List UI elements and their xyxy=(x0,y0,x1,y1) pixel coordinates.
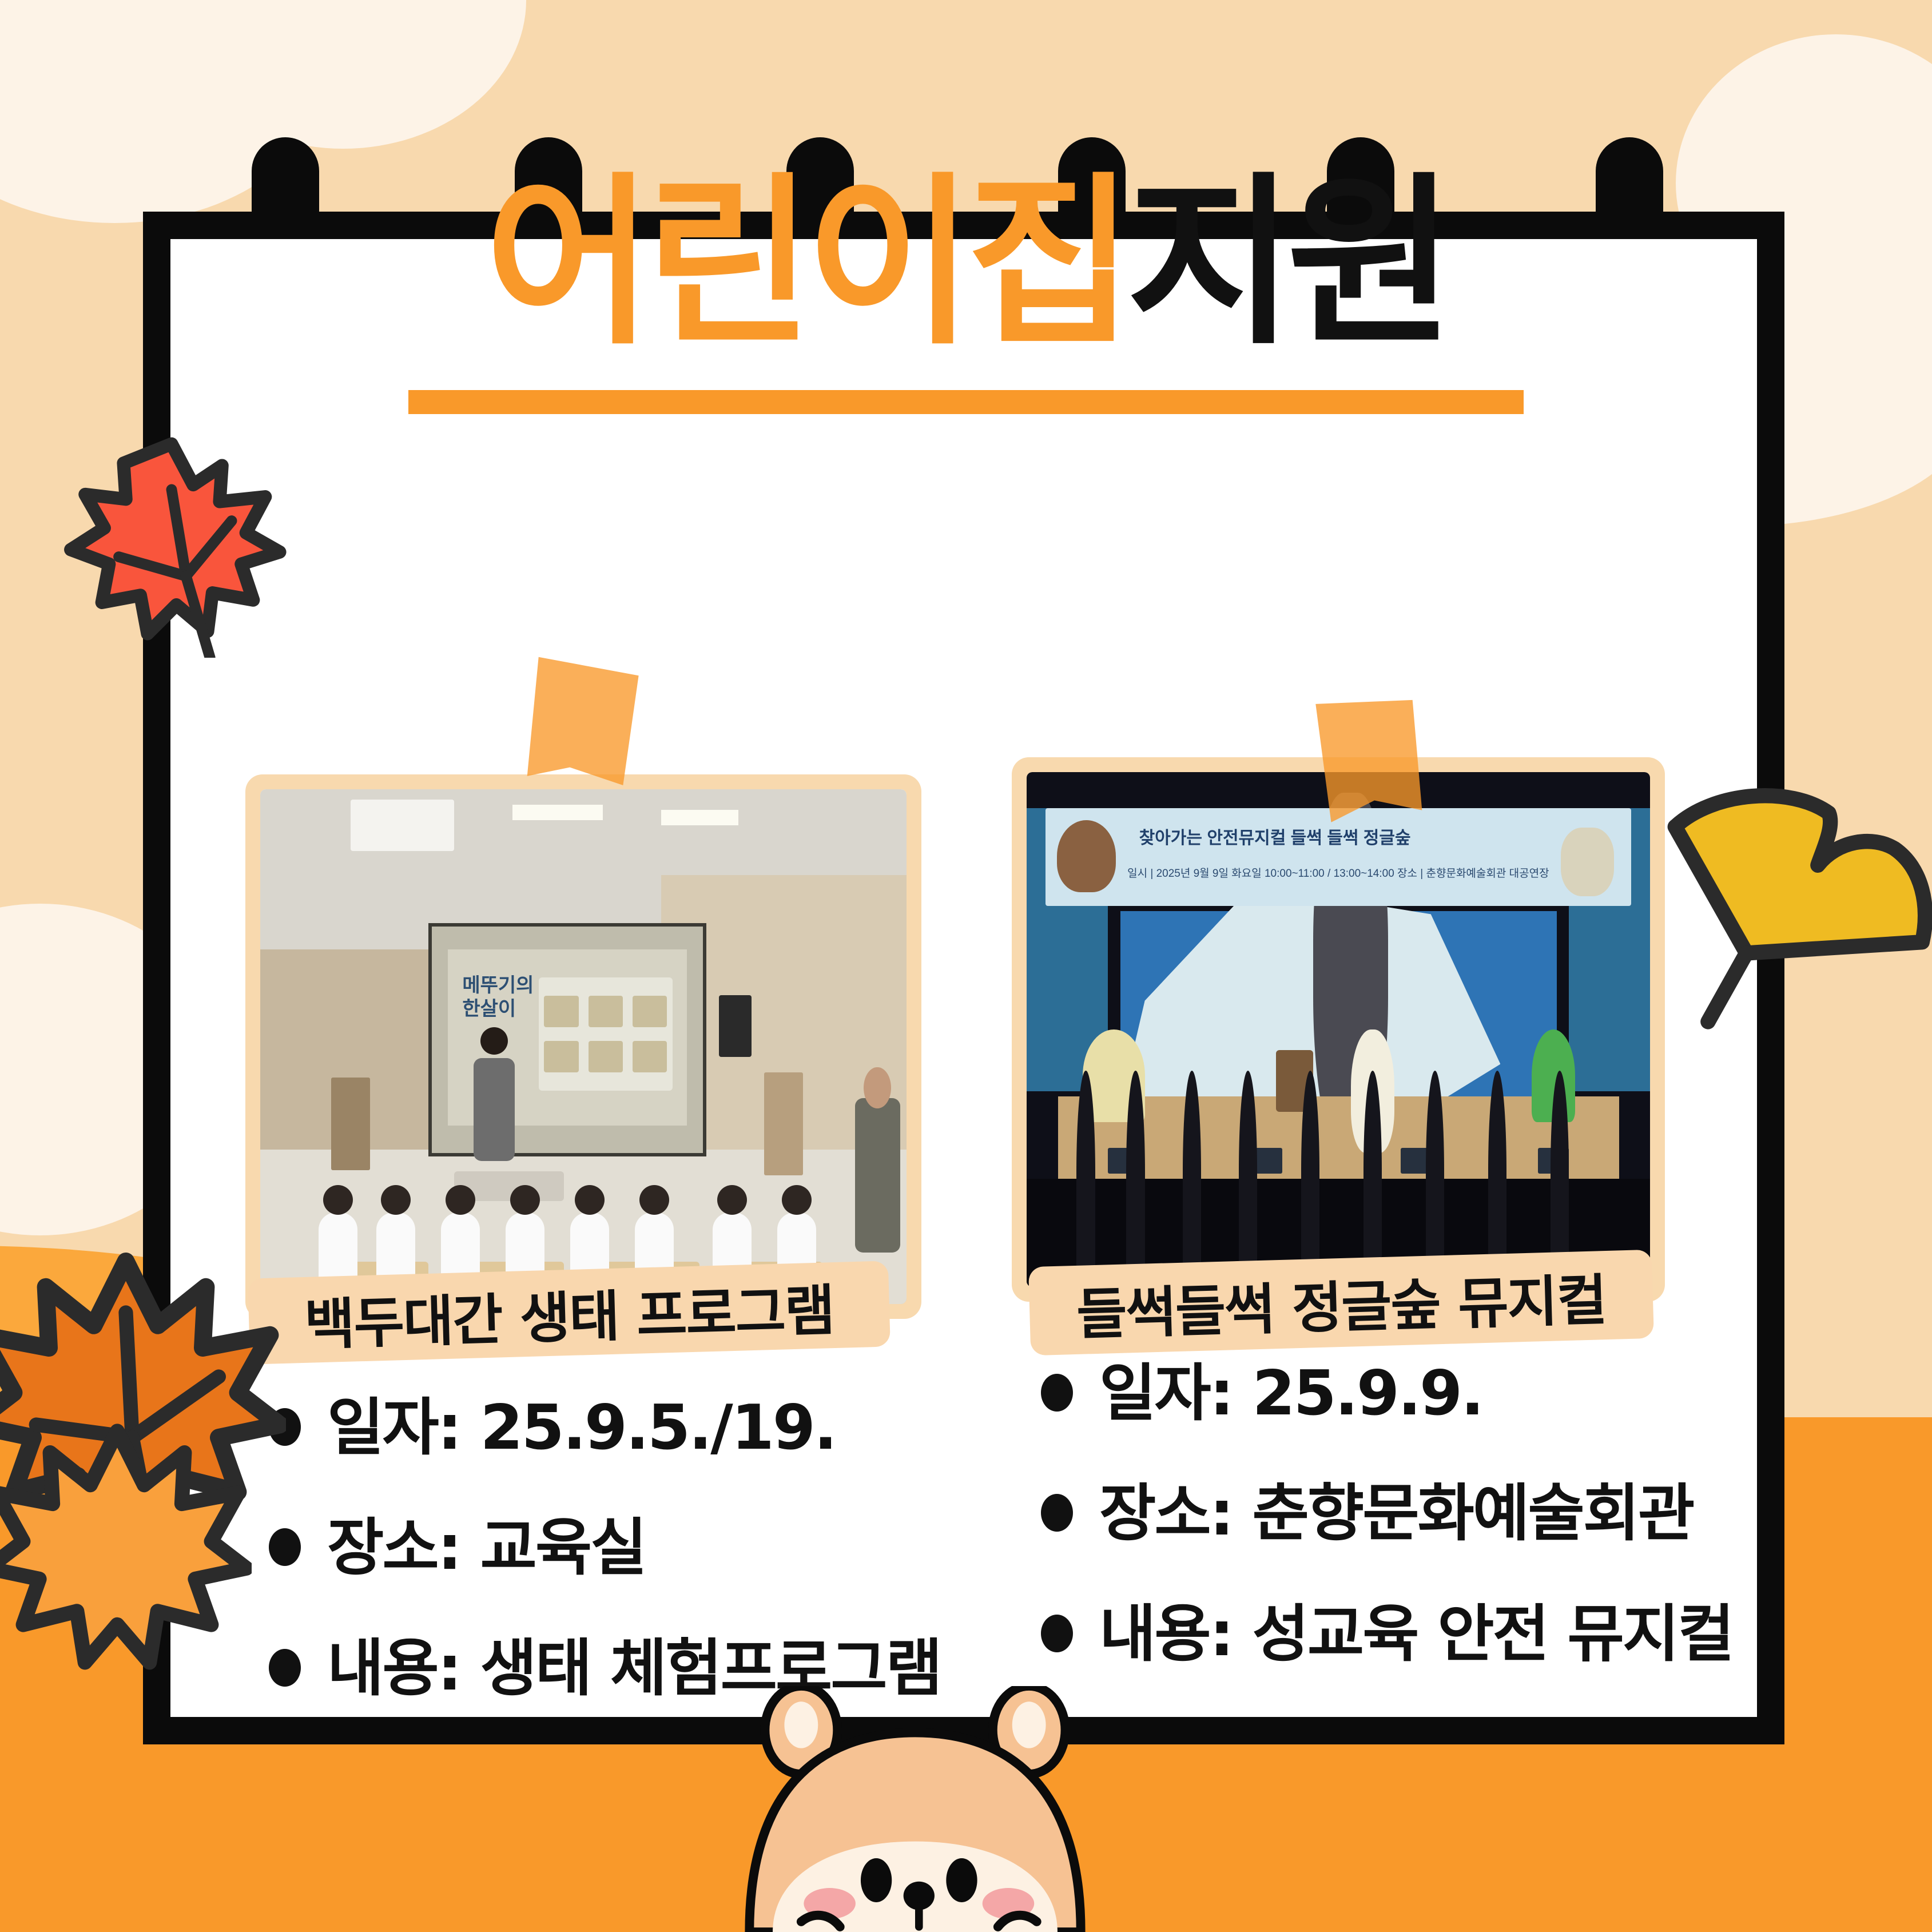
program-details-right: 일자: 25.9.9. 장소: 춘향문화예술회관 내용: 성교육 안전 뮤지컬 xyxy=(1041,1361,1733,1722)
stage-banner-subtitle: 일시 | 2025년 9월 9일 화요일 10:00~11:00 / 13:00… xyxy=(1127,865,1549,880)
program-caption-right: 들썩들썩 정글숲 뮤지컬 xyxy=(1028,1250,1654,1355)
program-caption-right-text: 들썩들썩 정글숲 뮤지컬 xyxy=(1075,1255,1607,1350)
stage-banner-title: 찾아가는 안전뮤지컬 들썩 들썩 정글숲 xyxy=(1139,824,1411,849)
title-underline xyxy=(408,390,1524,414)
list-item: 일자: 25.9.5./19. xyxy=(269,1396,941,1461)
program-caption-left: 백두대간 생태 프로그램 xyxy=(248,1261,891,1364)
bear-mascot-icon xyxy=(718,1686,1112,1932)
program-card-right: 찾아가는 안전뮤지컬 들썩 들썩 정글숲 일시 | 2025년 9월 9일 화요… xyxy=(1027,772,1650,1287)
detail-text: 내용: 성교육 안전 뮤지컬 xyxy=(1099,1602,1733,1667)
page-title-primary: 어린이집 xyxy=(485,157,1127,369)
program-card-left: 메뚜기의한살이 xyxy=(260,789,907,1304)
detail-text: 일자: 25.9.5./19. xyxy=(327,1396,836,1461)
program-caption-left-text: 백두대간 생태 프로그램 xyxy=(303,1266,835,1360)
detail-text: 장소: 춘향문화예술회관 xyxy=(1099,1481,1693,1547)
bullet-dot-icon xyxy=(269,1649,301,1687)
detail-text: 일자: 25.9.9. xyxy=(1099,1361,1482,1426)
page-title-secondary: 지원 xyxy=(1126,157,1447,369)
page-title-block: 어린이집지원 xyxy=(0,172,1932,414)
maple-leaf-red-icon xyxy=(51,418,292,658)
slide-title: 메뚜기의한살이 xyxy=(462,974,534,1021)
maple-leaf-orange-icon xyxy=(0,1407,252,1676)
list-item: 장소: 춘향문화예술회관 xyxy=(1041,1481,1733,1547)
ginkgo-leaf-yellow-icon xyxy=(1659,766,1932,1041)
list-item: 일자: 25.9.9. xyxy=(1041,1361,1733,1426)
page-title: 어린이집지원 xyxy=(0,172,1932,355)
bullet-dot-icon xyxy=(1041,1494,1073,1532)
detail-text: 장소: 교육실 xyxy=(327,1516,646,1581)
theater-musical-stage-photo: 찾아가는 안전뮤지컬 들썩 들썩 정글숲 일시 | 2025년 9월 9일 화요… xyxy=(1027,772,1650,1287)
bullet-dot-icon xyxy=(1041,1374,1073,1412)
bullet-dot-icon xyxy=(1041,1615,1073,1652)
classroom-ecology-lecture-photo: 메뚜기의한살이 xyxy=(260,789,907,1304)
list-item: 내용: 성교육 안전 뮤지컬 xyxy=(1041,1602,1733,1667)
list-item: 장소: 교육실 xyxy=(269,1516,941,1581)
